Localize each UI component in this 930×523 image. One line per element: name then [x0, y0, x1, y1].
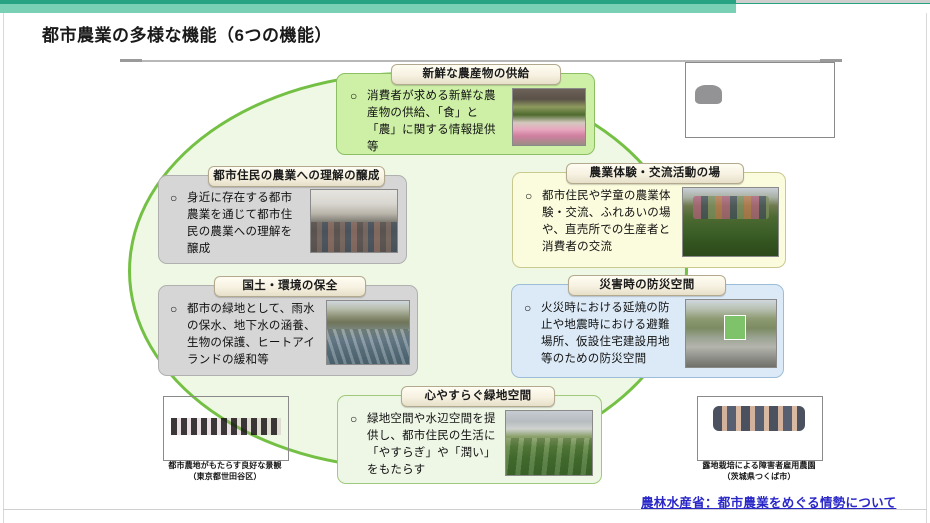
photo-caption-line1: 露地栽培による障害者雇用農園	[697, 460, 821, 471]
paddy-field-photo	[326, 300, 410, 365]
function-card-text: ○ 身近に存在する都市農業を通じて都市住民の農業への理解を醸成	[170, 190, 298, 258]
function-card-description: 火災時における延焼の防止や地震時における避難場所、仮設住宅建設用地等のための防災…	[541, 300, 676, 368]
function-card-text: ○ 都市住民や学童の農業体験・交流、ふれあいの場や、直売所での生産者と消費者の交…	[525, 188, 673, 256]
disabled-employment-farm-photo-block: 露地栽培による障害者雇用農園 （茨城県つくば市）	[697, 396, 821, 476]
harvest-experience-photo	[682, 187, 779, 257]
market-produce-photo	[512, 88, 586, 146]
bullet-circle-icon: ○	[350, 411, 357, 428]
header-edge-line	[736, 0, 930, 3]
bullet-circle-icon: ○	[524, 300, 531, 317]
function-card-experience[interactable]: 農業体験・交流活動の場 ○ 都市住民や学童の農業体験・交流、ふれあいの場や、直売…	[512, 163, 786, 268]
function-card-description: 都市住民や学童の農業体験・交流、ふれあいの場や、直売所での生産者と消費者の交流	[542, 188, 673, 256]
function-card-title: 国土・環境の保全	[214, 276, 366, 297]
photo-caption-line2: （東京都世田谷区）	[163, 471, 287, 482]
title-divider-cap-left	[120, 59, 142, 62]
function-card-title: 農業体験・交流活動の場	[566, 163, 744, 184]
disabled-employment-farm-photo	[697, 396, 823, 461]
farm-stand-photo	[685, 62, 835, 138]
page-title: 都市農業の多様な機能（6つの機能）	[42, 21, 332, 46]
function-card-description: 緑地空間や水辺空間を提供し、都市住民の生活に「やすらぎ」や「潤い」をもたらす	[367, 411, 496, 479]
function-card-green-space[interactable]: 心やすらぐ緑地空間 ○ 緑地空間や水辺空間を提供し、都市住民の生活に「やすらぎ」…	[337, 386, 602, 484]
function-card-description: 都市の緑地として、雨水の保水、地下水の涵養、生物の保護、ヒートアイランドの緩和等	[187, 301, 318, 369]
photo-caption: 都市農地がもたらす良好な景観 （東京都世田谷区）	[163, 460, 287, 482]
sakura-landscape-photo-block: 都市農地がもたらす良好な景観 （東京都世田谷区）	[163, 396, 287, 476]
function-card-text: ○ 火災時における延焼の防止や地震時における避難場所、仮設住宅建設用地等のための…	[524, 300, 676, 368]
bullet-circle-icon: ○	[525, 188, 532, 205]
bullet-circle-icon: ○	[170, 301, 177, 318]
function-card-description: 消費者が求める新鮮な農産物の供給、「食」と「農」に関する情報提供等	[367, 88, 500, 156]
function-card-land-environment[interactable]: 国土・環境の保全 ○ 都市の緑地として、雨水の保水、地下水の涵養、生物の保護、ヒ…	[158, 276, 418, 376]
function-card-fresh-produce[interactable]: 新鮮な農産物の供給 ○ 消費者が求める新鮮な農産物の供給、「食」と「農」に関する…	[336, 64, 595, 155]
function-card-title: 新鮮な農産物の供給	[391, 64, 561, 85]
greenhouse-event-photo	[310, 189, 398, 253]
photo-caption-line2: （茨城県つくば市）	[697, 471, 821, 482]
page-frame-right	[926, 13, 927, 523]
function-card-title: 災害時の防災空間	[568, 275, 726, 296]
disaster-levee-photo	[685, 299, 777, 368]
function-card-title: 心やすらぐ緑地空間	[401, 386, 555, 407]
photo-caption: 露地栽培による障害者雇用農園 （茨城県つくば市）	[697, 460, 821, 482]
page-frame-left	[3, 13, 4, 523]
bullet-circle-icon: ○	[350, 88, 357, 105]
function-card-description: 身近に存在する都市農業を通じて都市住民の農業への理解を醸成	[187, 190, 298, 258]
source-link[interactable]: 農林水産省：都市農業をめぐる情勢について	[641, 492, 896, 511]
function-card-text: ○ 消費者が求める新鮮な農産物の供給、「食」と「農」に関する情報提供等	[350, 88, 500, 156]
photo-caption-line1: 都市農地がもたらす良好な景観	[163, 460, 287, 471]
function-card-text: ○ 都市の緑地として、雨水の保水、地下水の涵養、生物の保護、ヒートアイランドの緩…	[170, 301, 318, 369]
header-accent-bar-light	[0, 4, 736, 13]
sakura-landscape-photo	[163, 396, 289, 461]
function-card-disaster-prevention[interactable]: 災害時の防災空間 ○ 火災時における延焼の防止や地震時における避難場所、仮設住宅…	[511, 275, 784, 378]
bullet-circle-icon: ○	[170, 190, 177, 207]
function-card-text: ○ 緑地空間や水辺空間を提供し、都市住民の生活に「やすらぎ」や「潤い」をもたらす	[350, 411, 496, 479]
function-card-title: 都市住民の農業への理解の醸成	[208, 166, 385, 187]
farm-stand-photo-block	[685, 62, 833, 136]
function-card-understanding[interactable]: 都市住民の農業への理解の醸成 ○ 身近に存在する都市農業を通じて都市住民の農業へ…	[158, 166, 407, 264]
green-field-photo	[505, 410, 593, 476]
